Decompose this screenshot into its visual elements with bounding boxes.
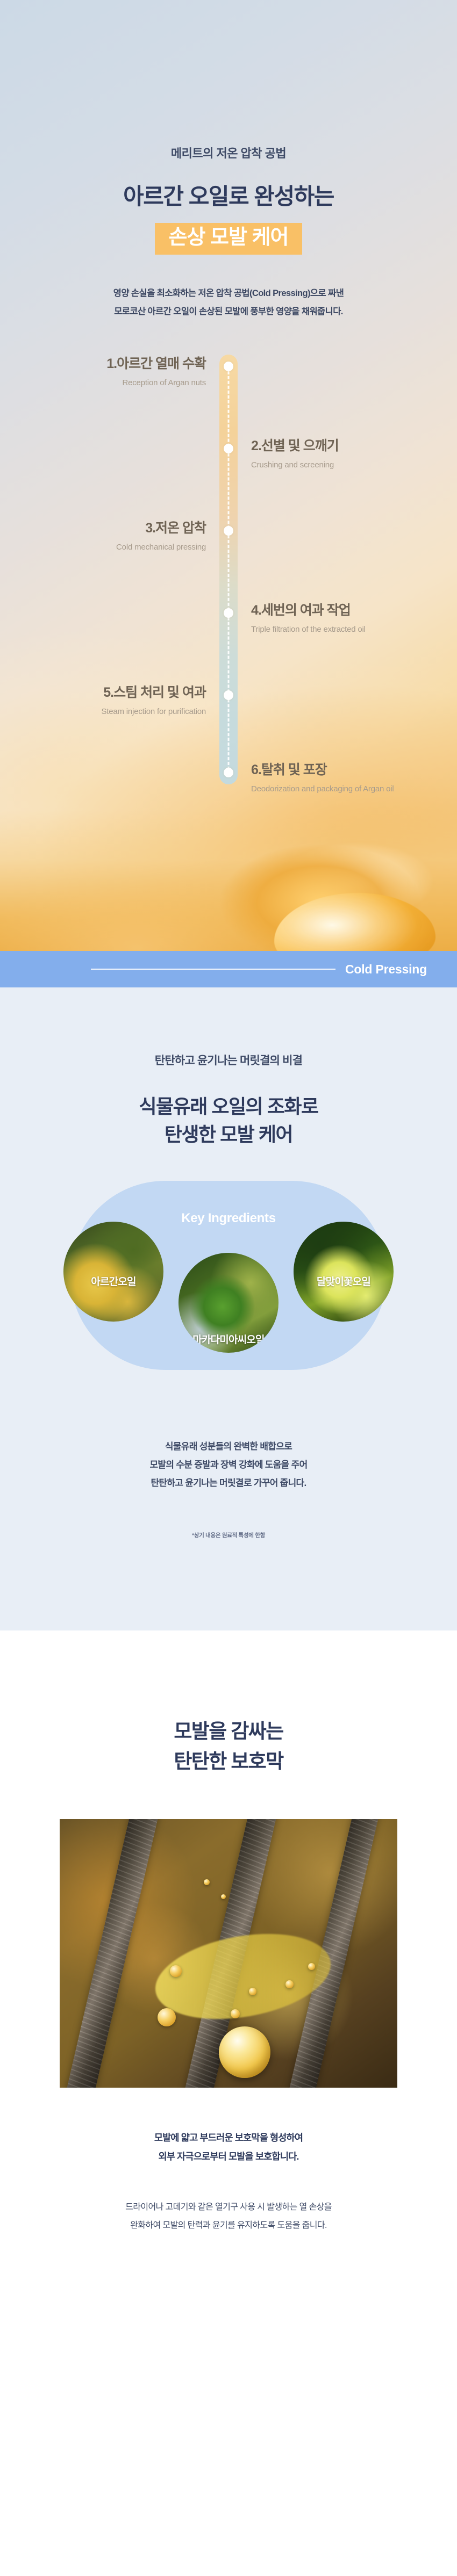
ingredient-circle-macadamia-oil: 마카다미아씨오일 (178, 1253, 279, 1353)
process-step-5: 5.스팀 처리 및 여과 Steam injection for purific… (23, 684, 206, 718)
ingredients-description: 식물유래 성분들의 완벽한 배합으로 모발의 수분 증발과 장벽 강화에 도움을… (0, 1438, 457, 1492)
process-step-1: 1.아르간 열매 수확 Reception of Argan nuts (23, 356, 206, 389)
process-step-4-subtitle: Triple filtration of the extracted oil (251, 624, 434, 636)
hero-badge-wrapper: 손상 모발 케어 (0, 223, 457, 255)
process-step-4: 4.세번의 여과 작업 Triple filtration of the ext… (251, 602, 434, 636)
protect-title-line-1: 모발을 감싸는 (174, 1720, 283, 1742)
process-step-2: 2.선별 및 으깨기 Crushing and screening (251, 438, 434, 471)
oil-capsule-large (219, 2026, 270, 2078)
cold-pressing-band: Cold Pressing (0, 951, 457, 987)
ingredients-desc-line-1: 식물유래 성분들의 완벽한 배합으로 (165, 1441, 292, 1452)
ingredient-circle-argan-oil: 아르간오일 (63, 1222, 163, 1322)
hair-strand-1 (61, 1819, 163, 2088)
process-step-4-title: 4.세번의 여과 작업 (251, 602, 434, 619)
ingredients-desc-line-3: 탄탄하고 윤기나는 머릿결로 가꾸어 줍니다. (151, 1478, 306, 1488)
process-step-6-title: 6.탈취 및 포장 (251, 762, 434, 778)
cold-pressing-divider-line (91, 969, 335, 970)
timeline-dot-5 (224, 690, 233, 700)
process-step-6-subtitle: Deodorization and packaging of Argan oil (251, 783, 434, 795)
process-step-5-subtitle: Steam injection for purification (23, 706, 206, 718)
process-step-6: 6.탈취 및 포장 Deodorization and packaging of… (251, 762, 434, 795)
process-step-5-title: 5.스팀 처리 및 여과 (23, 684, 206, 701)
hero-lead-paragraph: 영양 손실을 최소화하는 저온 압착 공법(Cold Pressing)으로 짜… (0, 285, 457, 321)
timeline-dot-2 (224, 444, 233, 453)
hero-lead-line-1: 영양 손실을 최소화하는 저온 압착 공법(Cold Pressing)으로 짜… (113, 288, 344, 298)
ingredient-label-argan-oil: 아르간오일 (91, 1274, 135, 1288)
ingredients-diagram: Key Ingredients 아르간오일 마카다미아씨오일 달맞이꽃오일 (0, 1181, 457, 1406)
ingredients-footnote: *상기 내용은 원료적 특성에 한함 (0, 1531, 457, 1539)
process-step-3-title: 3.저온 압착 (23, 520, 206, 537)
ingredients-title-line-2: 탄생한 모발 케어 (165, 1123, 292, 1145)
timeline-dot-3 (224, 526, 233, 536)
protect-desc2-line-1: 드라이어나 고데기와 같은 열기구 사용 시 발생하는 열 손상을 (125, 2203, 332, 2212)
key-ingredients-section: 탄탄하고 윤기나는 머릿결의 비결 식물유래 오일의 조화로 탄생한 모발 케어… (0, 987, 457, 1630)
process-step-3: 3.저온 압착 Cold mechanical pressing (23, 520, 206, 553)
hero-highlight-badge: 손상 모발 케어 (155, 223, 303, 255)
protect-title-line-2: 탄탄한 보호막 (174, 1750, 283, 1772)
process-step-2-title: 2.선별 및 으깨기 (251, 438, 434, 454)
timeline-dot-1 (224, 362, 233, 371)
timeline-dot-4 (224, 608, 233, 618)
ingredients-eyebrow: 탄탄하고 윤기나는 머릿결의 비결 (0, 1052, 457, 1068)
timeline-dashed-line (228, 366, 230, 775)
hair-strands-oil-photo (60, 1819, 397, 2088)
process-step-3-subtitle: Cold mechanical pressing (23, 542, 206, 553)
protect-title: 모발을 감싸는 탄탄한 보호막 (0, 1716, 457, 1776)
ingredients-title: 식물유래 오일의 조화로 탄생한 모발 케어 (0, 1093, 457, 1149)
ingredient-circle-evening-primrose-oil: 달맞이꽃오일 (294, 1222, 394, 1322)
ingredients-desc-line-2: 모발의 수분 증발과 장벽 강화에 도움을 주어 (149, 1460, 307, 1470)
hero-lead-line-2: 모로코산 아르간 오일이 손상된 모발에 풍부한 영양을 채워줍니다. (114, 307, 343, 316)
hero-process-section: 메리트의 저온 압착 공법 아르간 오일로 완성하는 손상 모발 케어 영양 손… (0, 0, 457, 987)
cold-pressing-label: Cold Pressing (345, 962, 427, 977)
process-timeline: 1.아르간 열매 수확 Reception of Argan nuts 2.선별… (0, 355, 457, 827)
protect-desc1-line-1: 모발에 얇고 부드러운 보호막을 형성하여 (154, 2132, 303, 2143)
oil-droplet-7 (204, 1879, 210, 1885)
protect-description-secondary: 드라이어나 고데기와 같은 열기구 사용 시 발생하는 열 손상을 완화하여 모… (0, 2198, 457, 2234)
oil-droplet-8 (221, 1894, 226, 1899)
key-ingredients-label: Key Ingredients (181, 1211, 276, 1226)
hero-title: 아르간 오일로 완성하는 (0, 183, 457, 211)
process-step-1-title: 1.아르간 열매 수확 (23, 356, 206, 372)
ingredients-title-line-1: 식물유래 오일의 조화로 (139, 1095, 318, 1117)
protect-description-primary: 모발에 얇고 부드러운 보호막을 형성하여 외부 자극으로부터 모발을 보호합니… (0, 2128, 457, 2166)
ingredient-label-evening-primrose-oil: 달맞이꽃오일 (317, 1274, 370, 1288)
product-detail-page: 메리트의 저온 압착 공법 아르간 오일로 완성하는 손상 모발 케어 영양 손… (0, 0, 457, 2353)
process-step-1-subtitle: Reception of Argan nuts (23, 377, 206, 389)
protective-film-section: 모발을 감싸는 탄탄한 보호막 모발에 얇고 부드러운 보호막을 형성하여 외부… (0, 1630, 457, 2353)
protect-desc2-line-2: 완화하여 모발의 탄력과 윤기를 유지하도록 도움을 줍니다. (130, 2221, 327, 2230)
timeline-dot-6 (224, 768, 233, 777)
ingredient-label-macadamia-oil: 마카다미아씨오일 (192, 1332, 264, 1346)
protect-desc1-line-2: 외부 자극으로부터 모발을 보호합니다. (158, 2151, 298, 2162)
process-step-2-subtitle: Crushing and screening (251, 459, 434, 471)
hero-eyebrow: 메리트의 저온 압착 공법 (0, 0, 457, 161)
oil-droplet-2 (158, 2008, 176, 2026)
